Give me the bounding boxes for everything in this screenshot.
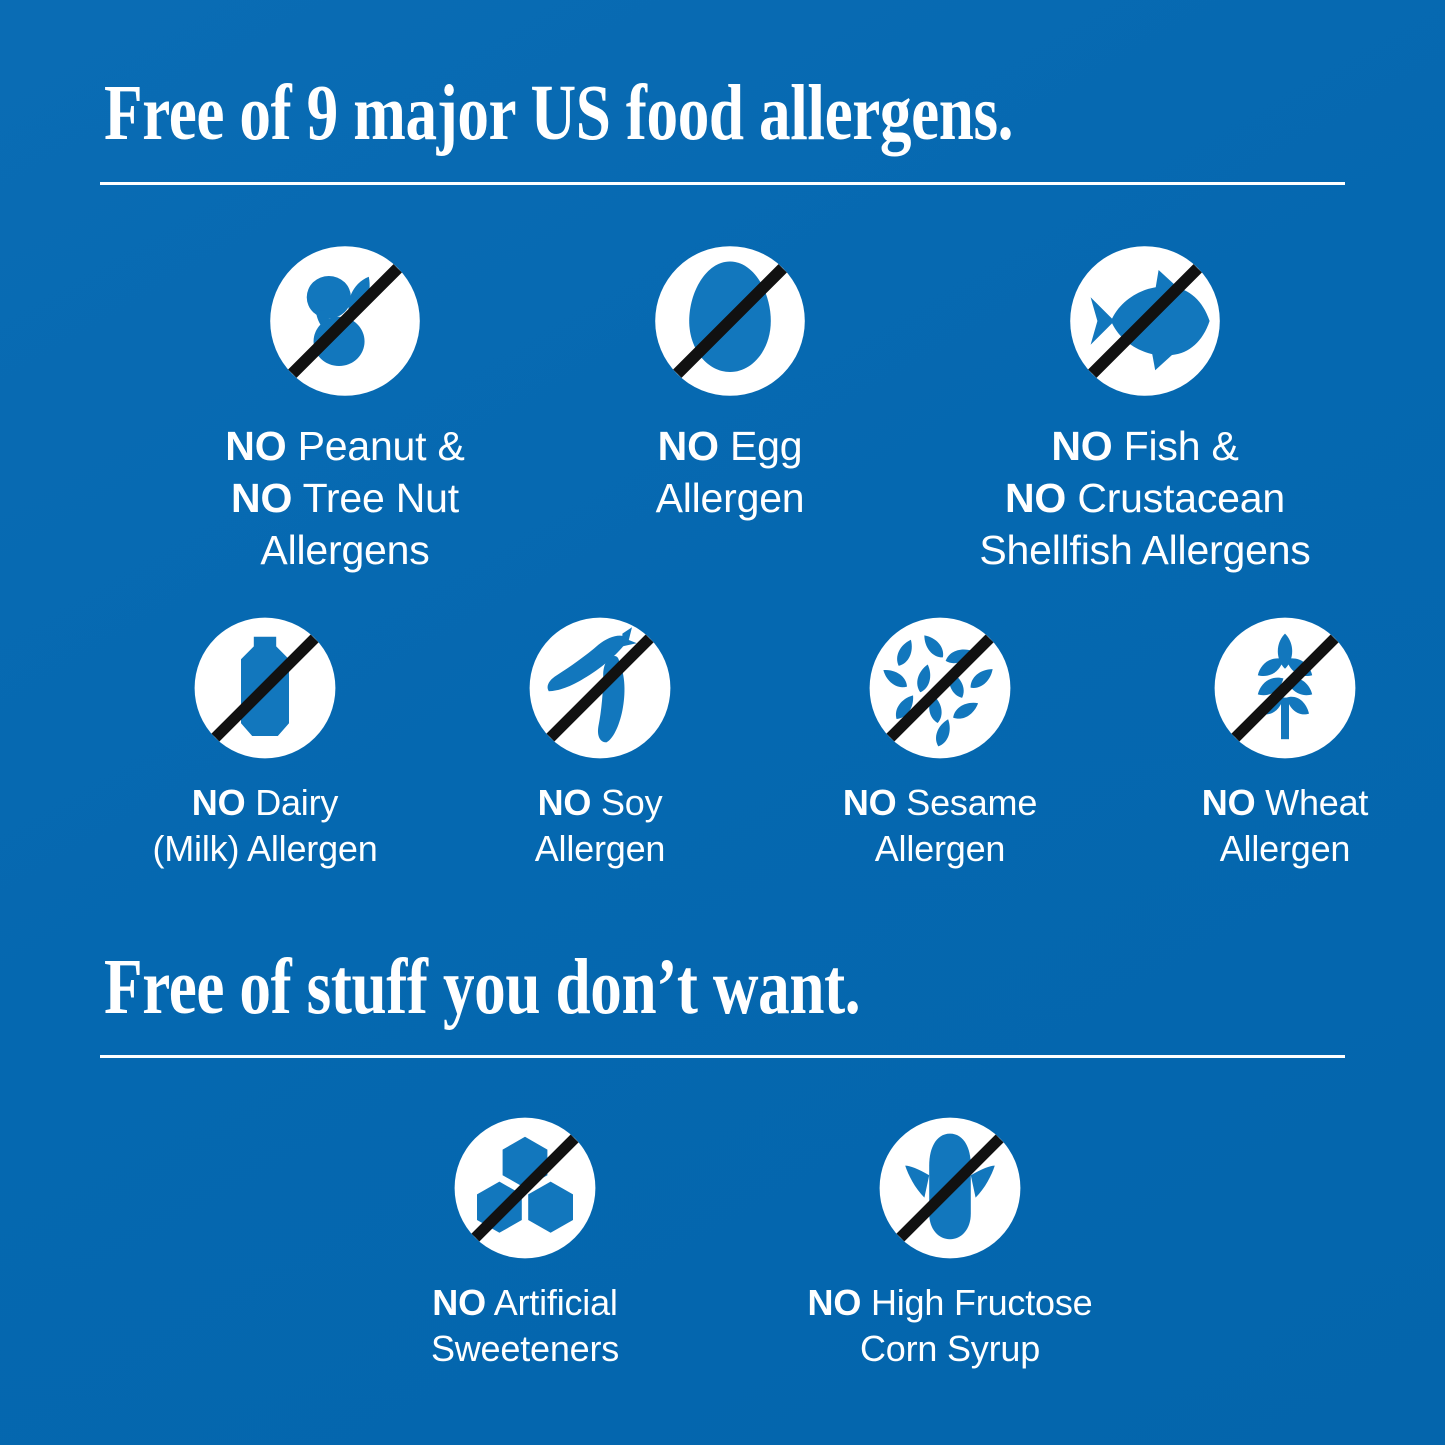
soybean-pod-icon <box>520 608 680 768</box>
page-title-unwanted: Free of stuff you don’t want. <box>104 946 860 1030</box>
milk-carton-icon-wrap <box>45 608 485 768</box>
no-prefix: NO <box>225 423 286 469</box>
tile-high-fructose-corn-syrup: NO High Fructose Corn Syrup <box>740 1108 1160 1372</box>
label-line-1: Soy <box>591 782 662 823</box>
label-line-3: Allergens <box>260 527 429 573</box>
egg-icon <box>645 236 815 406</box>
fish-icon <box>1060 236 1230 406</box>
divider-middle <box>100 1055 1345 1058</box>
label-line-1: Peanut & <box>286 423 464 469</box>
label-line-2: Sweeteners <box>431 1328 619 1369</box>
corn-cob-icon <box>870 1108 1030 1268</box>
label-line-2: Allergen <box>535 828 665 869</box>
no-prefix: NO <box>1005 475 1066 521</box>
label-line-2: Crustacean <box>1066 475 1285 521</box>
hexagon-molecule-icon-wrap <box>340 1108 710 1268</box>
tile-label-dairy: NO Dairy (Milk) Allergen <box>45 780 485 872</box>
no-prefix: NO <box>192 782 246 823</box>
wheat-stalk-icon-wrap <box>1090 608 1445 768</box>
sesame-seeds-icon-wrap <box>740 608 1140 768</box>
label-line-1: High Fructose <box>861 1282 1092 1323</box>
divider-top <box>100 182 1345 185</box>
tile-label-wheat: NO Wheat Allergen <box>1090 780 1445 872</box>
sesame-seeds-icon <box>860 608 1020 768</box>
tile-soy: NO Soy Allergen <box>420 608 780 872</box>
no-prefix: NO <box>231 475 292 521</box>
label-line-1: Wheat <box>1255 782 1368 823</box>
label-line-1: Fish & <box>1112 423 1238 469</box>
no-prefix: NO <box>1202 782 1256 823</box>
tile-sesame: NO Sesame Allergen <box>740 608 1140 872</box>
tile-label-soy: NO Soy Allergen <box>420 780 780 872</box>
label-line-1: Artificial <box>486 1282 618 1323</box>
wheat-stalk-icon <box>1205 608 1365 768</box>
tile-fish-shellfish: NO Fish & NO Crustacean Shellfish Allerg… <box>855 236 1435 576</box>
no-prefix: NO <box>432 1282 486 1323</box>
tile-label-sesame: NO Sesame Allergen <box>740 780 1140 872</box>
hexagon-molecule-icon <box>445 1108 605 1268</box>
label-line-2: Corn Syrup <box>860 1328 1040 1369</box>
soybean-pod-icon-wrap <box>420 608 780 768</box>
no-prefix: NO <box>1051 423 1112 469</box>
tile-label-sweeteners: NO Artificial Sweeteners <box>340 1280 710 1372</box>
page-title-allergens: Free of 9 major US food allergens. <box>104 72 1013 156</box>
tile-wheat: NO Wheat Allergen <box>1090 608 1445 872</box>
tile-dairy: NO Dairy (Milk) Allergen <box>45 608 485 872</box>
no-prefix: NO <box>538 782 592 823</box>
label-line-2: Allergen <box>656 475 805 521</box>
no-prefix: NO <box>808 1282 862 1323</box>
milk-carton-icon <box>185 608 345 768</box>
label-line-2: Allergen <box>1220 828 1350 869</box>
no-prefix: NO <box>843 782 897 823</box>
tile-label-fish: NO Fish & NO Crustacean Shellfish Allerg… <box>855 420 1435 576</box>
label-line-2: Allergen <box>875 828 1005 869</box>
label-line-1: Egg <box>719 423 803 469</box>
allergen-free-infographic: Free of 9 major US food allergens. NO Pe… <box>0 0 1445 1445</box>
tile-label-hfcs: NO High Fructose Corn Syrup <box>740 1280 1160 1372</box>
label-line-1: Sesame <box>896 782 1037 823</box>
corn-cob-icon-wrap <box>740 1108 1160 1268</box>
peanut-icon <box>260 236 430 406</box>
label-line-1: Dairy <box>245 782 338 823</box>
label-line-3: Shellfish Allergens <box>979 527 1310 573</box>
no-prefix: NO <box>658 423 719 469</box>
label-line-2: (Milk) Allergen <box>152 828 377 869</box>
fish-icon-wrap <box>855 236 1435 406</box>
label-line-2: Tree Nut <box>292 475 459 521</box>
tile-artificial-sweeteners: NO Artificial Sweeteners <box>340 1108 710 1372</box>
